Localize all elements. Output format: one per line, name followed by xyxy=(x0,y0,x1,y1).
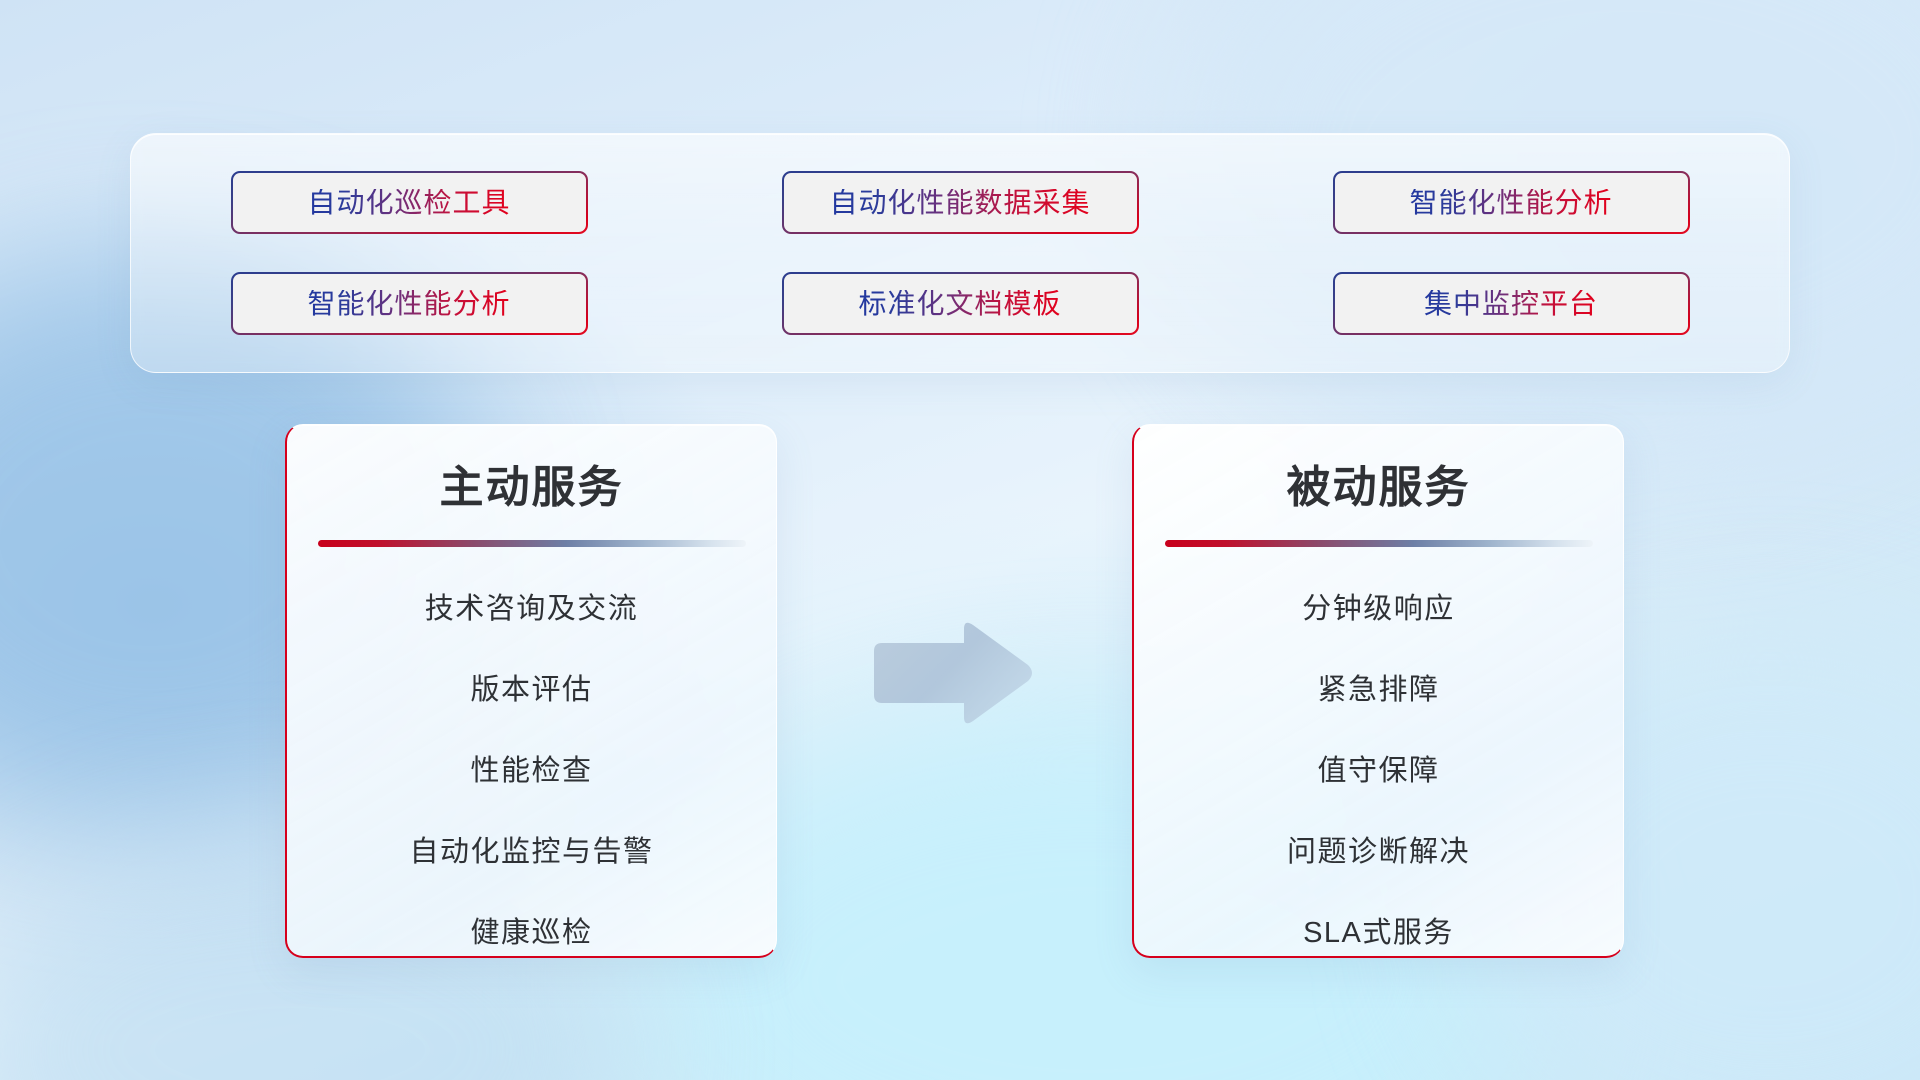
capability-chip-label: 集中监控平台 xyxy=(1424,290,1598,318)
service-item-list: 技术咨询及交流 版本评估 性能检查 自动化监控与告警 健康巡检 xyxy=(287,581,776,958)
capability-chip-standardized-document-template[interactable]: 标准化文档模板 xyxy=(782,272,1139,335)
capability-chip-intelligent-performance-analysis[interactable]: 智能化性能分析 xyxy=(1333,171,1690,234)
service-list-item: 健康巡检 xyxy=(470,905,592,958)
service-list-item: 技术咨询及交流 xyxy=(425,581,639,638)
service-list-item: 自动化监控与告警 xyxy=(409,824,653,881)
capability-chip-label: 自动化巡检工具 xyxy=(307,189,510,217)
service-card-passive[interactable]: 被动服务 分钟级响应 紧急排障 值守保障 问题诊断解决 SLA式服务 xyxy=(1132,424,1624,958)
capability-row-1: 自动化巡检工具 自动化性能数据采集 智能化性能分析 xyxy=(131,171,1789,234)
capability-chip-intelligent-performance-analysis-2[interactable]: 智能化性能分析 xyxy=(231,272,588,335)
capability-chip-automated-inspection-tool[interactable]: 自动化巡检工具 xyxy=(231,171,588,234)
service-list-item: 分钟级响应 xyxy=(1302,581,1455,638)
diagram-canvas: 自动化巡检工具 自动化性能数据采集 智能化性能分析 智能化性能分析 标准化文档模… xyxy=(0,0,1920,1080)
service-list-item: 值守保障 xyxy=(1317,743,1439,800)
capability-row-2: 智能化性能分析 标准化文档模板 集中监控平台 xyxy=(131,272,1789,335)
capability-chip-label: 自动化性能数据采集 xyxy=(829,189,1090,217)
service-list-item: SLA式服务 xyxy=(1303,905,1454,958)
service-list-item: 版本评估 xyxy=(470,662,592,719)
service-list-item: 问题诊断解决 xyxy=(1287,824,1470,881)
service-card-active[interactable]: 主动服务 技术咨询及交流 版本评估 性能检查 自动化监控与告警 健康巡检 xyxy=(285,424,777,958)
card-divider xyxy=(318,540,746,547)
card-divider xyxy=(1165,540,1593,547)
arrow-right-icon xyxy=(868,615,1036,731)
capability-chip-label: 智能化性能分析 xyxy=(307,290,510,318)
capability-chip-centralized-monitoring-platform[interactable]: 集中监控平台 xyxy=(1333,272,1690,335)
service-list-item: 紧急排障 xyxy=(1317,662,1439,719)
capability-panel: 自动化巡检工具 自动化性能数据采集 智能化性能分析 智能化性能分析 标准化文档模… xyxy=(130,133,1790,373)
capability-chip-label: 智能化性能分析 xyxy=(1409,189,1612,217)
service-card-title: 主动服务 xyxy=(287,463,776,514)
service-list-item: 性能检查 xyxy=(470,743,592,800)
service-item-list: 分钟级响应 紧急排障 值守保障 问题诊断解决 SLA式服务 xyxy=(1134,581,1623,958)
service-card-title: 被动服务 xyxy=(1134,463,1623,514)
capability-chip-label: 标准化文档模板 xyxy=(858,290,1061,318)
capability-chip-automated-performance-data-collection[interactable]: 自动化性能数据采集 xyxy=(782,171,1139,234)
